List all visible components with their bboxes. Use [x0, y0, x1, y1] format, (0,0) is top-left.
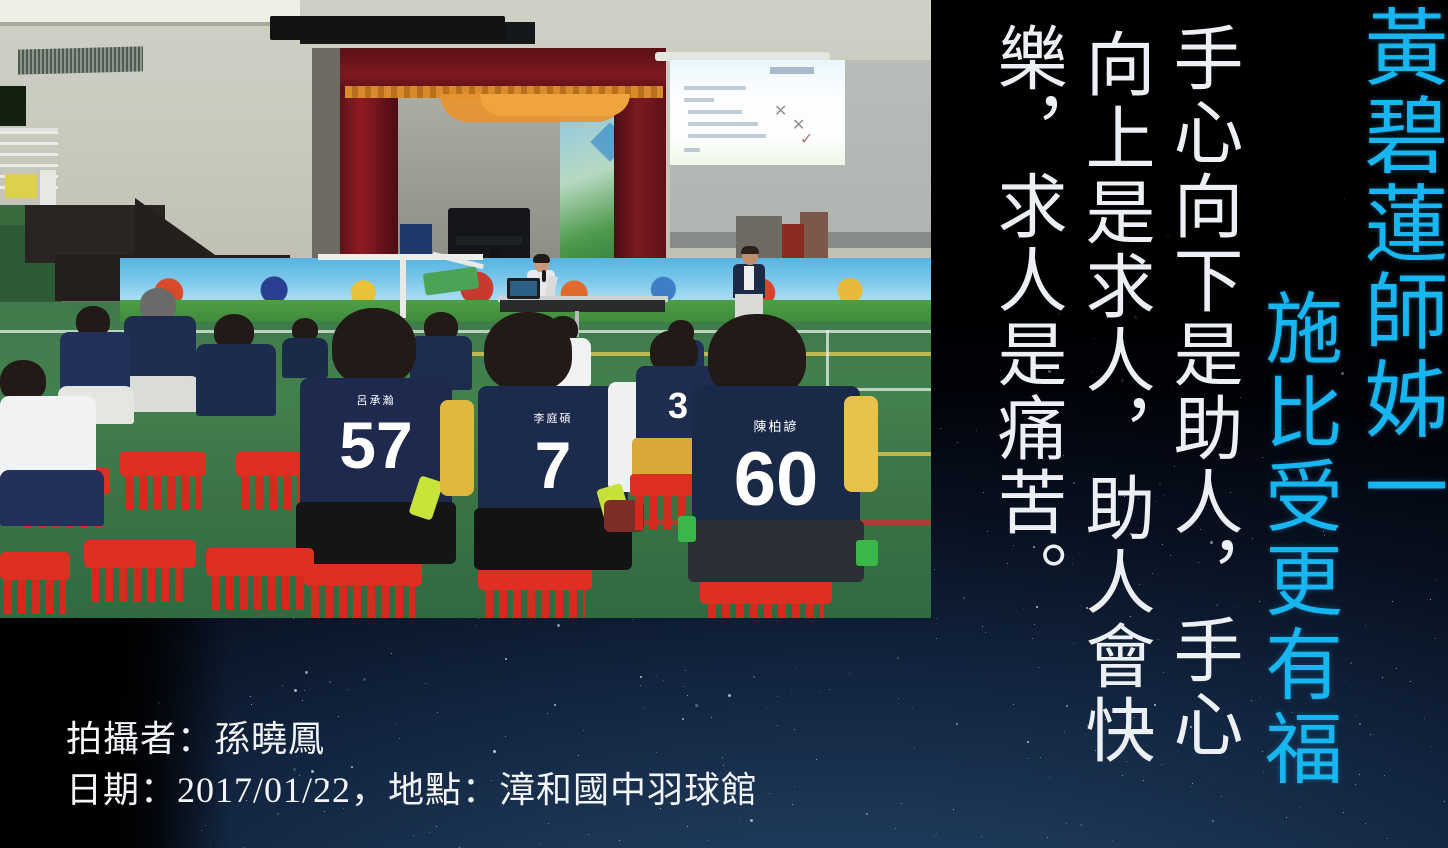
- presenter-table: [500, 300, 665, 312]
- jersey-name-3: 陳柏諺: [692, 416, 860, 435]
- slide-title-bar: [770, 67, 814, 74]
- jersey-name-2: 李庭碩: [478, 410, 628, 426]
- curtain-swag-inner: [480, 94, 630, 116]
- jersey-number-3: 60: [692, 442, 860, 518]
- jersey-number-1: 57: [300, 412, 452, 478]
- ceiling-beam: [270, 16, 505, 40]
- laptop-screen: [510, 281, 537, 296]
- quote-column-2: 向上是求人，助人會快: [1078, 28, 1148, 768]
- event-photo: ✕ ✕ ✓: [0, 0, 931, 618]
- standing-man-shirt: [744, 266, 754, 290]
- caption-date-place: 日期：2017/01/22，地點：漳和國中羽球館: [66, 765, 758, 816]
- slide-check-mark: ✓: [800, 132, 813, 148]
- speaker-name-title: 黃碧蓮師姊一: [1356, 4, 1440, 532]
- slide-canvas: ✕ ✕ ✓: [0, 0, 1448, 848]
- headline-text: 施比受更有福: [1258, 288, 1336, 792]
- piano-keys: [456, 236, 522, 245]
- microphone-icon: [542, 270, 546, 282]
- caption-block: 拍攝者：孫曉鳳 日期：2017/01/22，地點：漳和國中羽球館: [66, 714, 758, 816]
- standing-man-hair: [741, 246, 759, 254]
- jersey-name-1: 呂承瀚: [300, 392, 452, 408]
- projected-slide: ✕ ✕ ✓: [670, 60, 845, 165]
- yellow-sign: [5, 174, 37, 198]
- quote-column-1: 手心向下是助人，手心: [1166, 22, 1236, 762]
- speaker-hair: [533, 254, 550, 263]
- stair-wedge: [135, 198, 225, 262]
- wall-vent-icon: [18, 46, 143, 74]
- window: [0, 86, 26, 126]
- ceiling-strip: [0, 0, 300, 24]
- wall-seam: [0, 22, 300, 26]
- caption-photographer: 拍攝者：孫曉鳳: [66, 714, 758, 765]
- quote-column-3: 樂，求人是痛苦。: [990, 22, 1060, 614]
- badminton-net-post: [400, 256, 406, 318]
- slide-cross-mark-1: ✕: [774, 104, 787, 120]
